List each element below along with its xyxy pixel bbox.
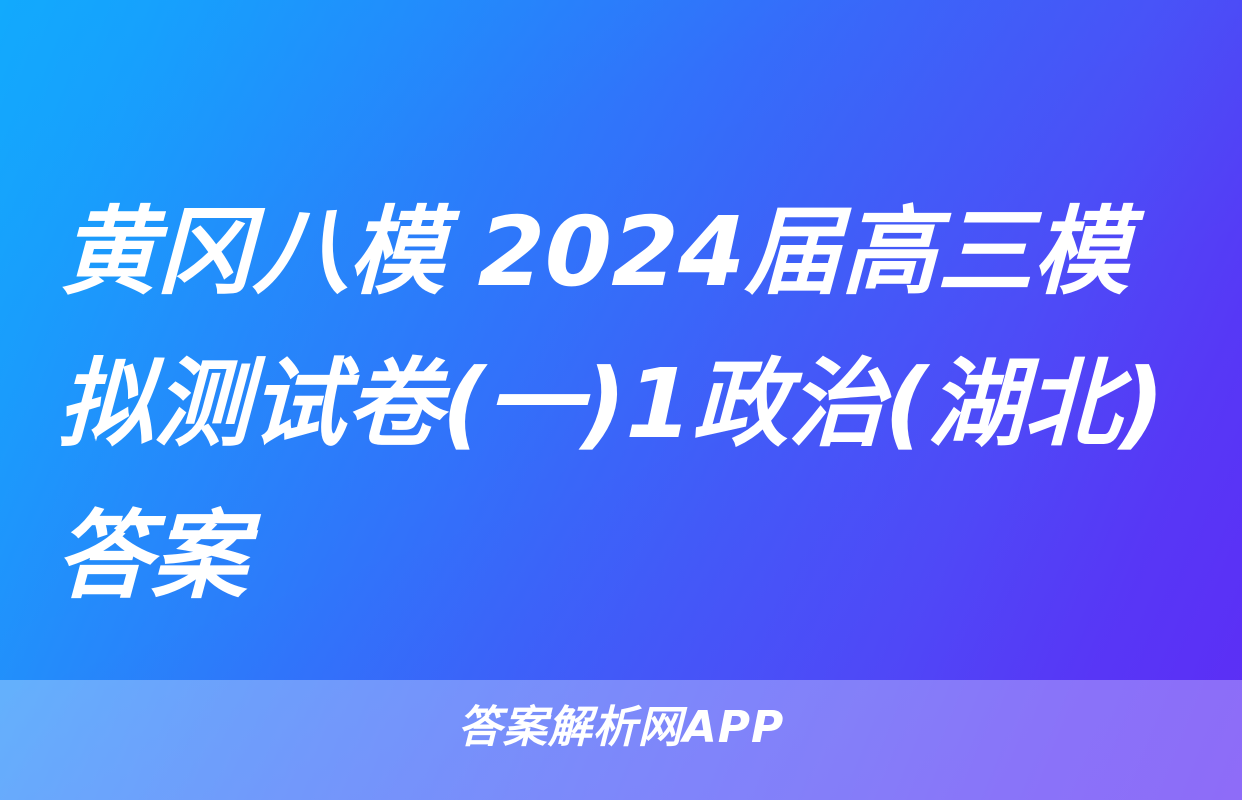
watermark-text: 答案解析网APP — [0, 700, 1242, 756]
headline-container: 黄冈八模 2024届高三模拟测试卷(一)1政治(湖北)答案 — [0, 176, 1242, 632]
page-title: 黄冈八模 2024届高三模拟测试卷(一)1政治(湖北)答案 — [54, 176, 1180, 632]
poster-root: 黄冈八模 2024届高三模拟测试卷(一)1政治(湖北)答案 答案解析网APP — [0, 0, 1242, 800]
